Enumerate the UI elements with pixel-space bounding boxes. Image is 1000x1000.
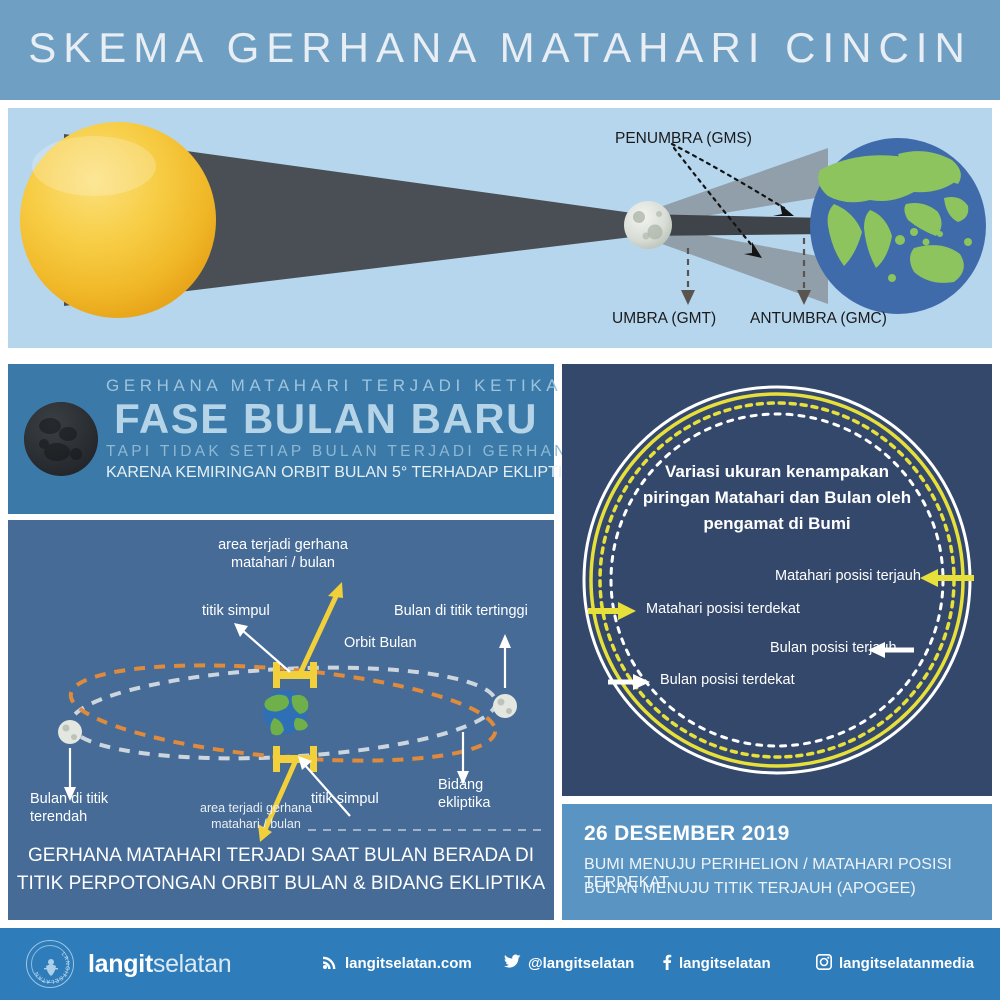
new-moon-line-3: TAPI TIDAK SETIAP BULAN TERJADI GERHANA [106, 443, 546, 461]
social-website-label: langitselatan.com [345, 955, 472, 972]
label-node-top: titik simpul [202, 602, 270, 620]
twitter-icon [504, 954, 521, 974]
label-sun-nearest: Matahari posisi terdekat [646, 601, 800, 617]
social-facebook[interactable]: langitselatan [662, 954, 771, 974]
brand-wordmark[interactable]: langitselatan [88, 950, 231, 979]
page-title: SKEMA GERHANA MATAHARI CINCIN [0, 24, 1000, 72]
infographic-page: SKEMA GERHANA MATAHARI CINCIN [0, 0, 1000, 1000]
moon-body [624, 201, 672, 249]
date-panel: 26 DESEMBER 2019 BUMI MENUJU PERIHELION … [562, 804, 992, 920]
label-eclipse-area-bottom: area terjadi gerhana matahari / bulan [186, 800, 326, 832]
date-note-2: BULAN MENUJU TITIK TERJAUH (APOGEE) [584, 880, 916, 898]
label-ecliptic-plane: Bidang ekliptika [438, 776, 528, 812]
langitselatan-logo[interactable]: LANGITSELATAN [26, 940, 74, 988]
social-instagram[interactable]: langitselatanmedia [816, 954, 974, 974]
new-moon-line-4: KARENA KEMIRINGAN ORBIT BULAN 5° TERHADA… [106, 464, 546, 482]
new-moon-line-1: GERHANA MATAHARI TERJADI KETIKA [106, 376, 546, 396]
orbit-footer-text: GERHANA MATAHARI TERJADI SAAT BULAN BERA… [8, 842, 554, 898]
new-moon-text-block: GERHANA MATAHARI TERJADI KETIKA FASE BUL… [106, 376, 546, 482]
label-moon-farthest: Bulan posisi terjauh [770, 640, 897, 656]
moon-lowest-body [58, 720, 82, 744]
moon-orbit-panel: area terjadi gerhana matahari / bulan ti… [8, 520, 554, 920]
rss-icon [322, 954, 338, 974]
eclipse-area-arrow-top [298, 582, 343, 678]
social-twitter[interactable]: @langitselatan [504, 954, 634, 974]
eclipse-geometry-panel: PENUMBRA (GMS) UMBRA (GMT) ANTUMBRA (GMC… [8, 108, 992, 348]
instagram-icon [816, 954, 832, 974]
new-moon-icon [24, 402, 98, 476]
eclipse-date: 26 DESEMBER 2019 [584, 822, 790, 846]
label-sun-farthest: Matahari posisi terjauh [775, 568, 921, 584]
footer-bar: LANGITSELATAN langitselatan langitselata… [0, 928, 1000, 1000]
label-moon-lowest: Bulan di titik terendah [30, 790, 140, 826]
moon-highest-body [493, 694, 517, 718]
header-bar: SKEMA GERHANA MATAHARI CINCIN [0, 0, 1000, 100]
label-node-bottom: titik simpul [311, 790, 379, 808]
brand-bold: langit [88, 950, 153, 978]
brand-light: selatan [153, 950, 232, 978]
label-moon-orbit: Orbit Bulan [344, 634, 417, 652]
social-facebook-label: langitselatan [679, 955, 771, 972]
label-antumbra: ANTUMBRA (GMC) [750, 310, 887, 328]
social-twitter-label: @langitselatan [528, 955, 634, 972]
node-top-leader [242, 630, 290, 672]
new-moon-phase-panel: GERHANA MATAHARI TERJADI KETIKA FASE BUL… [8, 364, 554, 514]
label-eclipse-area-top: area terjadi gerhana matahari / bulan [193, 536, 373, 572]
logo-emblem [44, 959, 58, 976]
facebook-icon [662, 954, 672, 974]
node-marker-top [273, 662, 317, 688]
arrow-sun-farthest [920, 569, 974, 587]
label-moon-highest: Bulan di titik tertinggi [394, 602, 528, 620]
rings-title: Variasi ukuran kenampakan piringan Matah… [617, 459, 937, 537]
label-umbra: UMBRA (GMT) [612, 310, 716, 328]
social-website[interactable]: langitselatan.com [322, 954, 472, 974]
apparent-size-panel: Variasi ukuran kenampakan piringan Matah… [562, 364, 992, 796]
label-moon-nearest: Bulan posisi terdekat [660, 672, 795, 688]
new-moon-line-2: FASE BULAN BARU [106, 396, 546, 442]
label-penumbra: PENUMBRA (GMS) [615, 130, 752, 148]
social-instagram-label: langitselatanmedia [839, 955, 974, 972]
sun-highlight [32, 136, 156, 196]
